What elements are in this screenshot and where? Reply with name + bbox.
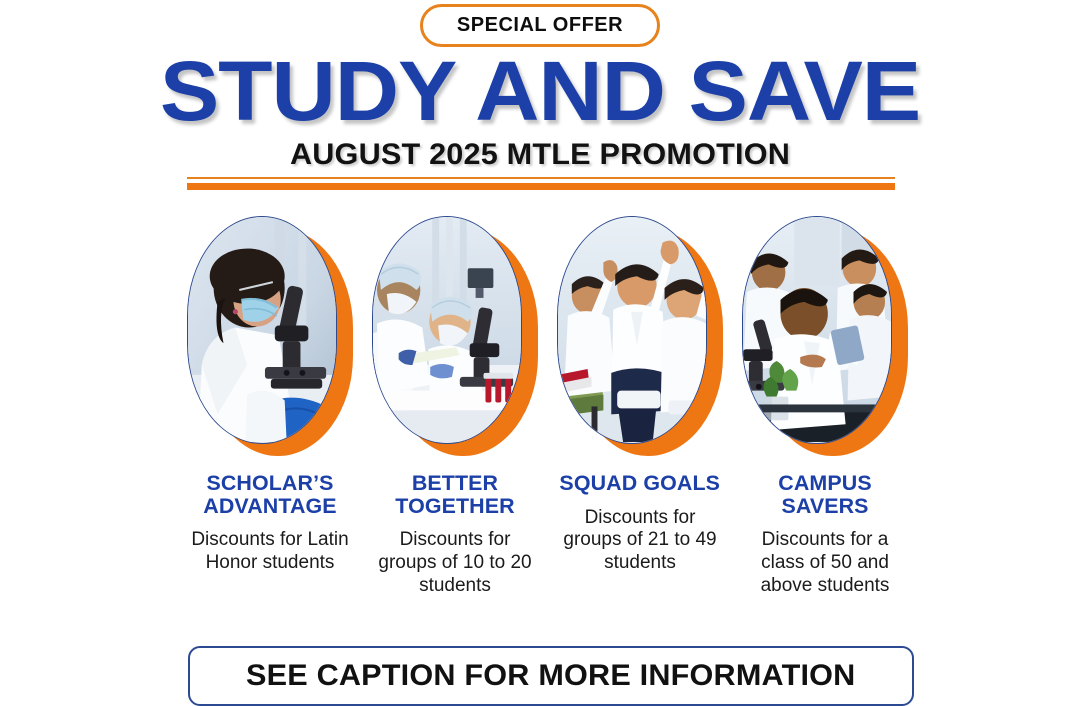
offer-photo-squad-goals [557,216,707,444]
offer-photo-scholars-advantage [187,216,337,444]
photo-frame [742,216,908,456]
divider-bar [187,183,895,190]
page-subtitle: AUGUST 2025 MTLE PROMOTION [0,138,1080,172]
card-description: Discounts for Latin Honor students [187,529,353,575]
scientist-microscope-illustration [188,217,336,442]
page-title: STUDY AND SAVE [0,50,1080,132]
promo-poster: SPECIAL OFFER STUDY AND SAVE AUGUST 2025… [0,0,1080,675]
students-raising-hands-illustration [558,217,706,442]
photo-frame [187,216,353,456]
see-caption-banner: SEE CAPTION FOR MORE INFORMATION [188,646,914,706]
divider-hairline [187,177,895,179]
photo-frame [372,216,538,456]
offer-photo-better-together [372,216,522,444]
card-title: SQUAD GOALS [560,473,721,496]
offer-card-squad-goals: SQUAD GOALS Discounts for groups of 21 t… [557,216,723,598]
banner-text: SEE CAPTION FOR MORE INFORMATION [246,659,855,693]
offer-card-scholars-advantage: SCHOLAR’S ADVANTAGE Discounts for Latin … [187,216,353,598]
students-group-microscope-illustration [743,217,891,442]
badge-row: SPECIAL OFFER [0,4,1080,47]
card-title: BETTER TOGETHER [370,473,539,518]
offer-card-campus-savers: CAMPUS SAVERS Discounts for a class of 5… [742,216,908,598]
special-offer-badge: SPECIAL OFFER [420,4,660,47]
offer-card-better-together: BETTER TOGETHER Discounts for groups of … [372,216,538,598]
divider [187,177,895,190]
card-title: SCHOLAR’S ADVANTAGE [185,473,354,518]
offer-cards: SCHOLAR’S ADVANTAGE Discounts for Latin … [187,216,913,598]
card-description: Discounts for groups of 21 to 49 student… [557,507,723,575]
card-description: Discounts for groups of 10 to 20 student… [372,529,538,597]
offer-photo-campus-savers [742,216,892,444]
card-title: CAMPUS SAVERS [740,473,909,518]
card-description: Discounts for a class of 50 and above st… [742,529,908,597]
photo-frame [557,216,723,456]
lab-technicians-illustration [373,217,521,442]
